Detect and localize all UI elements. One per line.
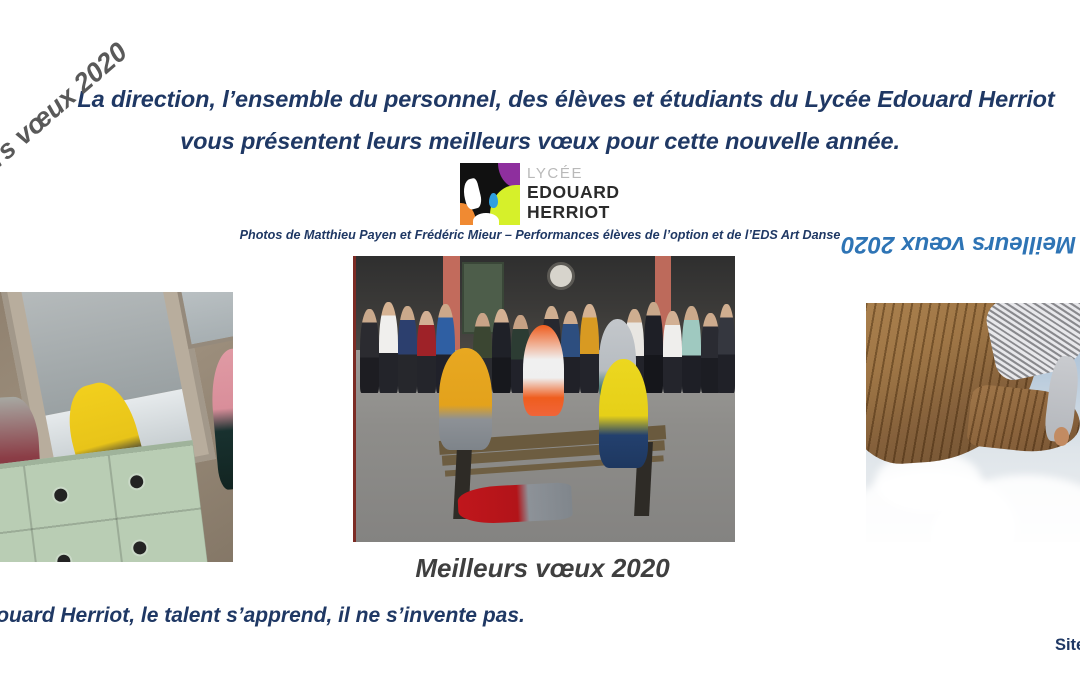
locker-knob <box>54 487 68 501</box>
dancer-mustard-hoodie <box>439 348 492 451</box>
crowd-person <box>701 313 720 393</box>
photo-center <box>353 256 735 542</box>
headline-line-2: vous présentent leurs meilleurs vœux pou… <box>0 120 1080 162</box>
crowd-person <box>663 311 682 394</box>
crowd-person <box>718 304 735 393</box>
dancer-orange-hoodie <box>523 325 565 417</box>
logo-text-edouard: EDOUARD <box>527 183 620 203</box>
crowd-person <box>360 309 379 394</box>
logo-wordmark: LYCÉE EDOUARD HERRIOT <box>527 166 620 222</box>
crowd-person <box>379 302 398 393</box>
crowd-person <box>682 306 701 393</box>
address-line-website: Site : lycee-edo <box>700 633 1080 659</box>
crowd-person <box>417 311 436 394</box>
voeux-slide: La direction, l’ensemble du personnel, d… <box>0 0 1080 675</box>
locker-knob <box>133 540 147 554</box>
crowd-person <box>398 306 417 393</box>
locker-knob <box>130 474 144 488</box>
address-block: Rue de la 10300 Sa Tél : 03-2 Site : lyc… <box>700 556 1080 658</box>
address-line-phone: Tél : 03-2 <box>700 607 1080 633</box>
dancer-yellow-hoodie <box>599 359 648 468</box>
logo-water-drop-icon <box>489 193 498 208</box>
logo-white-cutout-bottom <box>473 213 499 225</box>
school-tagline: Lycée Edouard Herriot, le talent s’appre… <box>0 604 604 628</box>
address-line-city: 10300 Sa <box>700 582 1080 608</box>
logo-mark-icon <box>460 163 520 225</box>
photo-left-scene <box>0 292 233 562</box>
logo-text-lycee: LYCÉE <box>527 166 620 181</box>
crowd-person <box>580 304 599 393</box>
page-title: La direction, l’ensemble du personnel, d… <box>0 78 1080 162</box>
logo-text-herriot: HERRIOT <box>527 203 620 223</box>
school-logo: LYCÉE EDOUARD HERRIOT <box>460 162 620 226</box>
address-line-street: Rue de la <box>700 556 1080 582</box>
photo-right <box>866 303 1080 542</box>
crowd-person <box>492 309 511 394</box>
headline-line-1: La direction, l’ensemble du personnel, d… <box>0 78 1080 120</box>
dancer-red-lying <box>457 482 572 525</box>
caption-rotated-right: Meilleurs vœux 2020 <box>676 230 1076 258</box>
caption-center: Meilleurs vœux 2020 <box>353 553 732 584</box>
locker-knob <box>57 554 71 562</box>
photo-left <box>0 292 233 562</box>
crowd-person <box>644 302 663 393</box>
